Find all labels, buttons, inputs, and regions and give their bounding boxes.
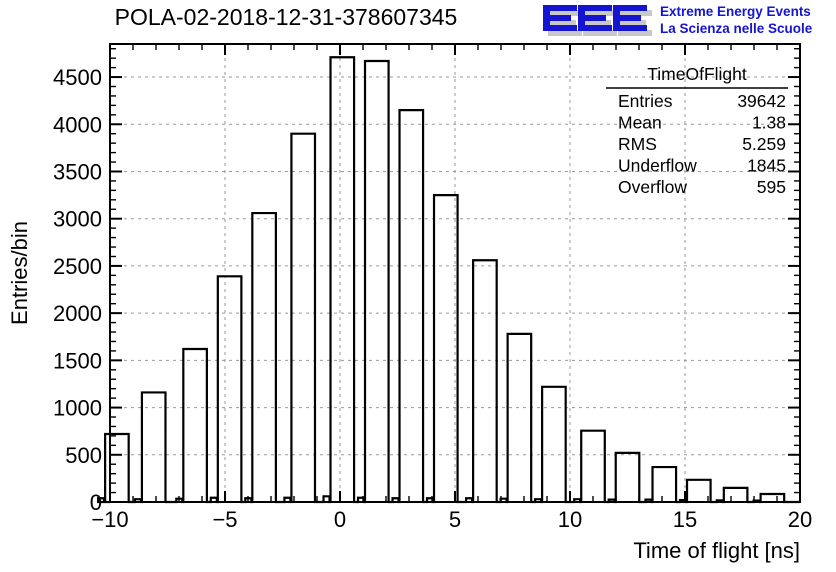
eee-logo: Extreme Energy Events La Scienza nelle S… — [543, 4, 813, 36]
stats-row-label: Mean — [618, 113, 662, 133]
stats-row-label: Underflow — [618, 156, 697, 176]
stats-row-label: Overflow — [618, 177, 687, 197]
eee-logo-line1: Extreme Energy Events — [660, 4, 811, 19]
y-tick-label: 0 — [90, 490, 102, 515]
y-tick-label: 2000 — [53, 301, 102, 326]
eee-logo-shadow — [548, 10, 652, 36]
y-tick-label: 3000 — [53, 207, 102, 232]
stats-row-value: 595 — [757, 177, 786, 197]
stats-row-value: 1845 — [747, 156, 786, 176]
x-axis-tick-labels: −10−505101520 — [91, 507, 812, 532]
x-tick-label: 5 — [449, 507, 461, 532]
stats-row-label: Entries — [618, 91, 673, 111]
y-tick-label: 1000 — [53, 396, 102, 421]
eee-logo-mark — [543, 5, 647, 31]
page-title: POLA-02-2018-12-31-378607345 — [115, 4, 458, 30]
stats-row-value: 5.259 — [742, 134, 786, 154]
eee-logo-line2: La Scienza nelle Scuole — [660, 21, 813, 36]
x-tick-label: 20 — [788, 507, 812, 532]
x-tick-label: 15 — [673, 507, 697, 532]
stats-row-value: 1.38 — [752, 113, 786, 133]
y-tick-label: 500 — [65, 443, 102, 468]
y-tick-label: 1500 — [53, 348, 102, 373]
stats-rows: Entries39642Mean1.38RMS5.259Underflow184… — [618, 91, 786, 197]
stats-row-label: RMS — [618, 134, 657, 154]
histogram-plot: POLA-02-2018-12-31-378607345 — [0, 0, 836, 572]
stats-title: TimeOfFlight — [647, 64, 747, 84]
y-tick-label: 4000 — [53, 112, 102, 137]
y-tick-label: 3500 — [53, 159, 102, 184]
stats-row-value: 39642 — [737, 91, 786, 111]
root-canvas: POLA-02-2018-12-31-378607345 — [0, 0, 836, 572]
y-tick-label: 4500 — [53, 65, 102, 90]
x-tick-label: 10 — [558, 507, 582, 532]
x-axis-title: Time of flight [ns] — [633, 538, 800, 563]
grid-lines — [110, 44, 800, 502]
y-axis-title: Entries/bin — [7, 221, 32, 325]
x-tick-label: −5 — [212, 507, 237, 532]
x-tick-label: 0 — [334, 507, 346, 532]
y-tick-label: 2500 — [53, 254, 102, 279]
y-axis-tick-labels: 050010001500200025003000350040004500 — [53, 65, 102, 515]
plot-frame — [110, 44, 800, 502]
axis-ticks — [110, 44, 800, 502]
statistics-box: TimeOfFlight Entries39642Mean1.38RMS5.25… — [606, 64, 788, 197]
